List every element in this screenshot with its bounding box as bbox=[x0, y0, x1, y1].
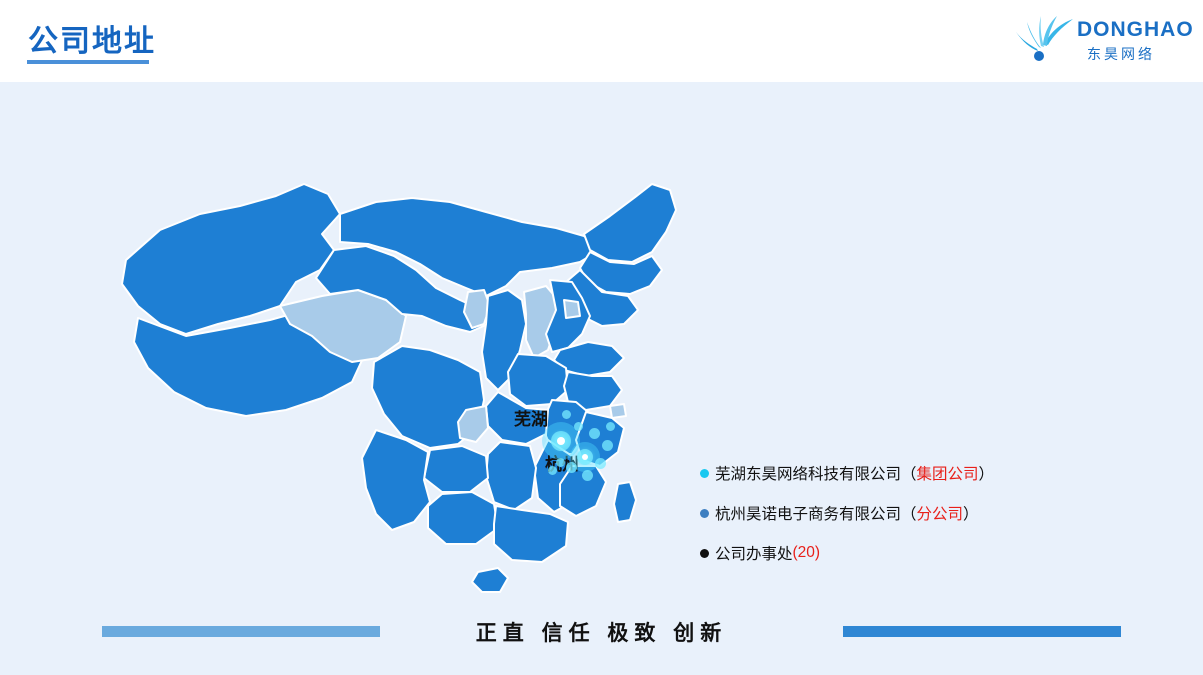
legend: 芜湖东昊网络科技有限公司 （ 集团公司 ） 杭州昊诺电子商务有限公司 （ 分公司… bbox=[700, 462, 1120, 582]
legend-item-branch-company: 杭州昊诺电子商务有限公司 （ 分公司 ） bbox=[700, 502, 1120, 524]
province-taiwan bbox=[614, 482, 636, 522]
title-underline bbox=[27, 60, 149, 64]
province-guangdong bbox=[494, 506, 568, 562]
slide-header: 公司地址 DONGHAO 东昊网络 bbox=[0, 0, 1203, 82]
province-yunnan bbox=[362, 430, 430, 530]
legend-item-offices: 公司办事处 (20) bbox=[700, 542, 1120, 564]
marker-wuhu-core bbox=[557, 437, 565, 445]
footer-bar-right bbox=[843, 626, 1121, 637]
marker-office bbox=[595, 458, 606, 469]
province-shanghai bbox=[610, 404, 626, 418]
legend-tag: 集团公司 bbox=[917, 462, 979, 484]
map-label-wuhu: 芜湖 bbox=[514, 405, 548, 430]
slide-root: 公司地址 DONGHAO 东昊网络 bbox=[0, 0, 1203, 675]
legend-open-paren: （ bbox=[901, 462, 917, 484]
legend-tag: (20) bbox=[793, 544, 821, 562]
marker-office bbox=[589, 428, 600, 439]
marker-office bbox=[548, 466, 557, 475]
marker-office bbox=[582, 470, 593, 481]
legend-close-paren: ） bbox=[963, 502, 979, 524]
marker-office bbox=[602, 440, 613, 451]
marker-office bbox=[574, 422, 583, 431]
china-map-svg bbox=[90, 110, 710, 610]
marker-hangzhou-core bbox=[582, 454, 588, 460]
logo-swoosh-icon bbox=[1015, 14, 1075, 66]
province-guangxi bbox=[428, 492, 498, 544]
marker-office bbox=[556, 458, 565, 467]
province-beijing bbox=[564, 300, 580, 318]
china-map: 芜湖 杭州 bbox=[90, 110, 710, 610]
legend-label: 杭州昊诺电子商务有限公司 bbox=[715, 502, 901, 524]
legend-item-group-company: 芜湖东昊网络科技有限公司 （ 集团公司 ） bbox=[700, 462, 1120, 484]
marker-office bbox=[566, 462, 577, 473]
province-guizhou bbox=[424, 446, 488, 492]
legend-close-paren: ） bbox=[979, 462, 995, 484]
province-hainan bbox=[472, 568, 508, 592]
logo-name: DONGHAO bbox=[1077, 18, 1194, 42]
marker-office bbox=[606, 422, 615, 431]
legend-dot-icon bbox=[700, 509, 709, 518]
logo-subtitle: 东昊网络 bbox=[1087, 44, 1155, 64]
page-title: 公司地址 bbox=[28, 16, 156, 60]
province-hunan bbox=[486, 442, 536, 510]
legend-label: 公司办事处 bbox=[715, 542, 793, 564]
legend-dot-icon bbox=[700, 469, 709, 478]
province-heilongjiang bbox=[584, 184, 676, 262]
brand-logo: DONGHAO 东昊网络 bbox=[1015, 10, 1185, 70]
legend-tag: 分公司 bbox=[917, 502, 964, 524]
legend-label: 芜湖东昊网络科技有限公司 bbox=[715, 462, 901, 484]
legend-open-paren: （ bbox=[901, 502, 917, 524]
legend-dot-icon bbox=[700, 549, 709, 558]
marker-office bbox=[562, 410, 571, 419]
